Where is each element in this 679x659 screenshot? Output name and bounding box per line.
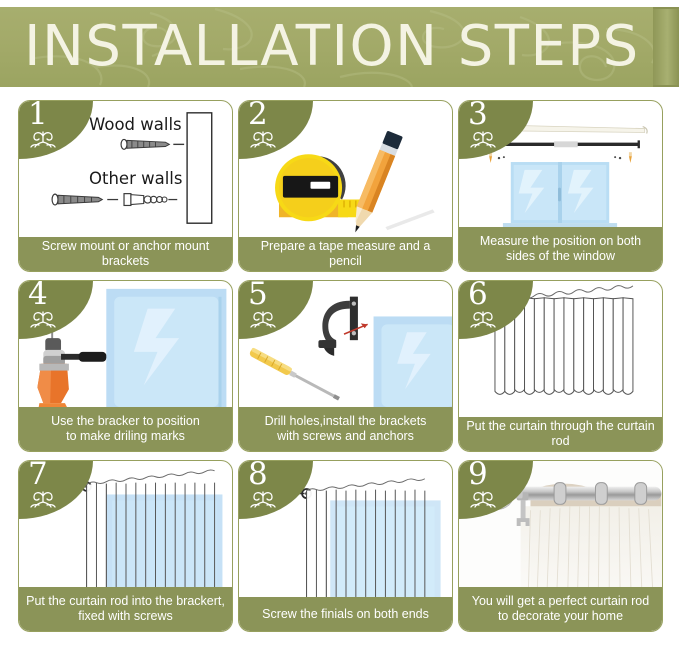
step-number-1: 1 (28, 100, 48, 130)
caption-line: Drill holes,install the brackets (265, 414, 427, 429)
step-number-6: 6 (468, 280, 488, 310)
caption-line: Screw the finials on both ends (262, 607, 429, 622)
step-number-9: 9 (468, 460, 488, 490)
step-number-2: 2 (248, 100, 268, 130)
step-card-7: 7 Put the curtain rod into the brack (18, 460, 233, 632)
flourish-icon (466, 488, 500, 508)
step-card-5: 5 Drill holes,install the brackets (238, 280, 453, 452)
banner-roll-cap-top (653, 7, 679, 9)
page-title: INSTALLATION STEPS (24, 11, 640, 83)
header-banner: INSTALLATION STEPS (0, 7, 679, 87)
banner-roll-cap-bottom (653, 85, 679, 87)
caption-line: to make driling marks (51, 429, 200, 444)
banner-scroll-roll (653, 7, 679, 87)
flourish-icon (26, 128, 60, 148)
step-card-2: 2 Prepare a tape measure and a pencil (238, 100, 453, 272)
caption-line: You will get a perfect curtain rod (472, 594, 649, 609)
step-number-3: 3 (468, 100, 488, 130)
caption-line: sides of the window (480, 249, 641, 264)
step-caption-6: Put the curtain through the curtain rod (459, 417, 662, 451)
caption-line: with screws and anchors (265, 429, 427, 444)
caption-line: to decorate your home (472, 609, 649, 624)
step-card-3: 3 Measure the position on both (458, 100, 663, 272)
caption-line: Put the curtain through the curtain rod (465, 419, 656, 449)
caption-line: Use the bracker to position (51, 414, 200, 429)
installation-steps-infographic: INSTALLATION STEPS Wood walls Other wall… (0, 0, 679, 659)
caption-line: Screw mount or anchor mount brackets (25, 239, 226, 269)
caption-line: Measure the position on both (480, 234, 641, 249)
caption-line: Prepare a tape measure and a pencil (245, 239, 446, 269)
step-caption-8: Screw the finials on both ends (239, 597, 452, 631)
flourish-icon (466, 308, 500, 328)
flourish-icon (246, 128, 280, 148)
caption-line: Put the curtain rod into the brackert, (26, 594, 225, 609)
step-card-4: 4 Use the bracker to position (18, 280, 233, 452)
step-number-8: 8 (248, 460, 268, 490)
step-caption-3: Measure the position on both sides of th… (459, 227, 662, 271)
flourish-icon (246, 308, 280, 328)
step-card-9: 9 You will get a perfect curtain rod (458, 460, 663, 632)
step-caption-9: You will get a perfect curtain rod to de… (459, 587, 662, 631)
steps-grid: Wood walls Other walls (18, 100, 663, 632)
flourish-icon (26, 488, 60, 508)
caption-line: fixed with screws (26, 609, 225, 624)
step-caption-1: Screw mount or anchor mount brackets (19, 237, 232, 271)
flourish-icon (246, 488, 280, 508)
step-number-7: 7 (28, 460, 48, 490)
flourish-icon (26, 308, 60, 328)
step-caption-4: Use the bracker to position to make dril… (19, 407, 232, 451)
step-caption-7: Put the curtain rod into the brackert, f… (19, 587, 232, 631)
step-card-6: 6 Put the curtain through the curtain ro… (458, 280, 663, 452)
step-card-1: Wood walls Other walls (18, 100, 233, 272)
step-card-8: 8 Screw the finials on both ends (238, 460, 453, 632)
step-caption-2: Prepare a tape measure and a pencil (239, 237, 452, 271)
step-caption-5: Drill holes,install the brackets with sc… (239, 407, 452, 451)
step-number-4: 4 (28, 280, 48, 310)
step-number-5: 5 (248, 280, 268, 310)
flourish-icon (466, 128, 500, 148)
